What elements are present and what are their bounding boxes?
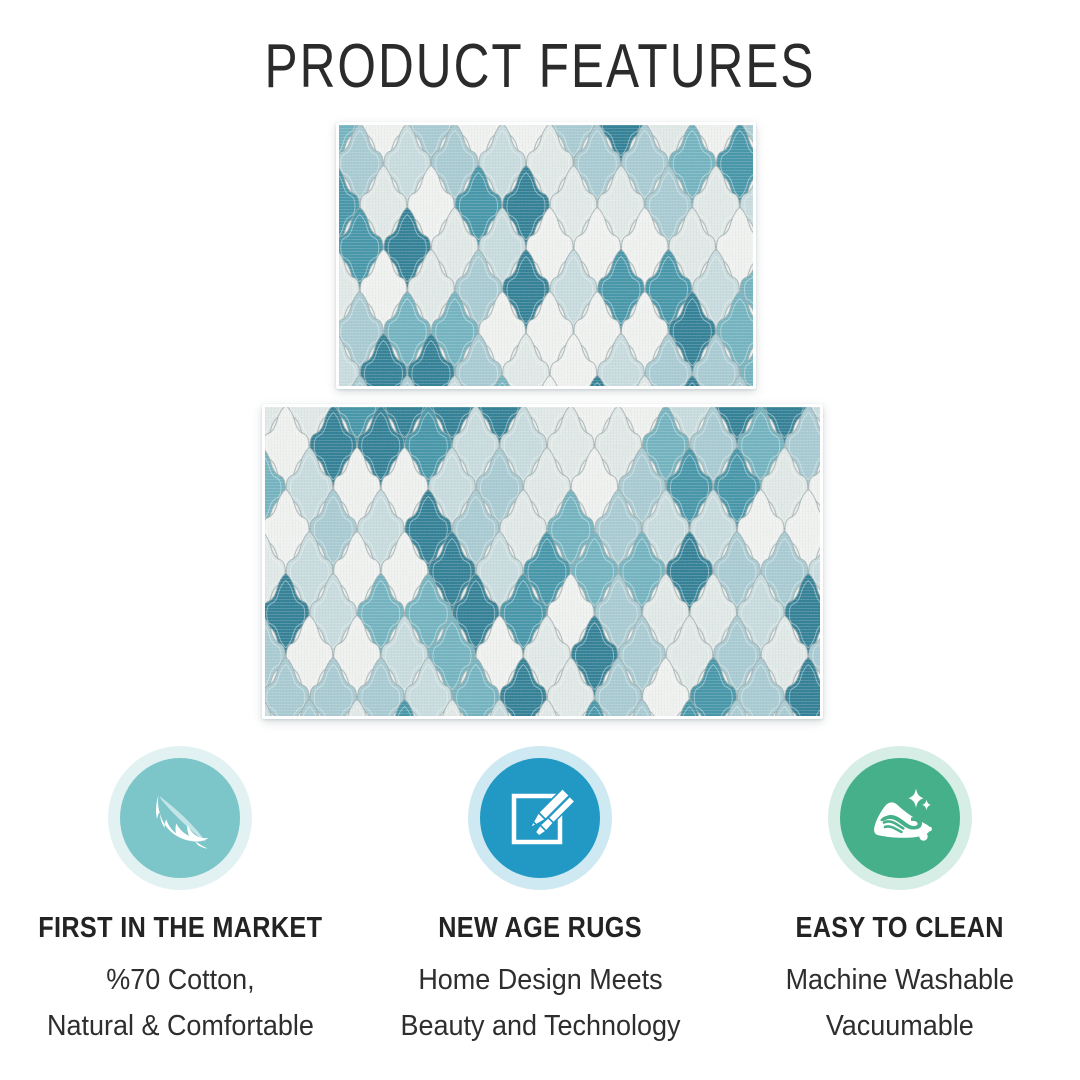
infographic-page: PRODUCT FEATURES FIRST IN THE MARKE <box>0 0 1080 1080</box>
rug-grain-texture <box>262 404 823 719</box>
feature-title: NEW AGE RUGS <box>438 912 642 945</box>
product-image-large-rug <box>262 404 823 719</box>
feature-title: FIRST IN THE MARKET <box>38 912 322 945</box>
feature-description: Machine Washable Vacuumable <box>786 957 1014 1049</box>
rug-pattern-small <box>336 122 756 389</box>
feature-description: Home Design Meets Beauty and Technology <box>400 957 680 1049</box>
feature-item-easy-to-clean: EASY TO CLEAN Machine Washable Vacuumabl… <box>720 752 1080 1049</box>
feature-description: %70 Cotton, Natural & Comfortable <box>47 957 314 1049</box>
feather-icon-badge <box>114 752 246 884</box>
feature-item-new-age-rugs: NEW AGE RUGS Home Design Meets Beauty an… <box>360 752 720 1049</box>
feature-description-line: Vacuumable <box>786 1003 1014 1049</box>
hand-wiping-clean-icon-badge <box>834 752 966 884</box>
page-title: PRODUCT FEATURES <box>108 34 972 99</box>
feature-description-line: Natural & Comfortable <box>47 1003 314 1049</box>
feature-description-line: %70 Cotton, <box>47 957 314 1003</box>
product-image-small-rug <box>336 122 756 389</box>
feature-title: EASY TO CLEAN <box>796 912 1004 945</box>
feature-item-first-in-the-market: FIRST IN THE MARKET %70 Cotton, Natural … <box>0 752 360 1049</box>
feature-description-line: Home Design Meets <box>400 957 680 1003</box>
feature-description-line: Beauty and Technology <box>400 1003 680 1049</box>
pencil-drawing-icon-badge <box>474 752 606 884</box>
feature-description-line: Machine Washable <box>786 957 1014 1003</box>
hand-wiping-clean-icon <box>854 772 946 864</box>
pencil-drawing-icon <box>496 774 584 862</box>
feature-list: FIRST IN THE MARKET %70 Cotton, Natural … <box>0 752 1080 1080</box>
rug-grain-texture <box>336 122 756 389</box>
rug-pattern-large <box>262 404 823 719</box>
feather-icon <box>134 772 226 864</box>
